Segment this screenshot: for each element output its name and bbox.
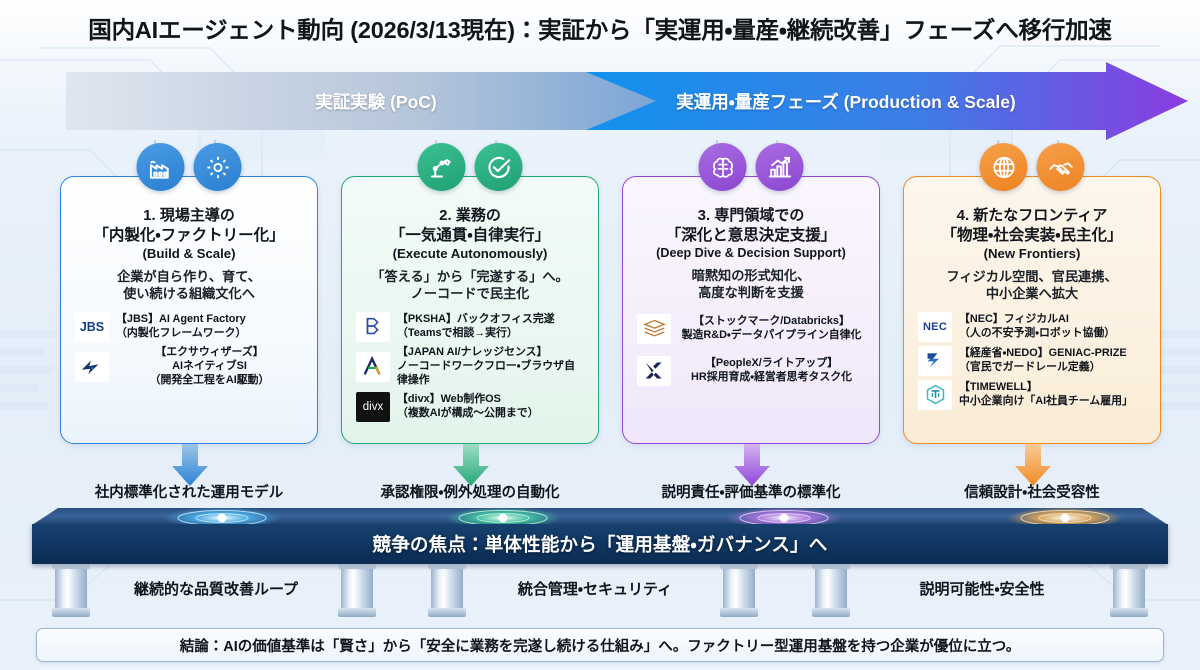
conclusion-box: 結論：AIの価値基準は「賢さ」から「安全に業務を完遂し続ける仕組み」へ。ファクト… — [36, 628, 1164, 662]
logo-nedo — [918, 346, 952, 376]
card2-title-en: (Execute Autonomously) — [352, 246, 588, 261]
list-item[interactable]: 【ストックマーク/Databricks】 製造R&D・データパイプライン自律化 — [637, 314, 865, 344]
card-new-frontiers[interactable]: 4. 新たなフロンティア 「物理・社会実装・民主化」 (New Frontier… — [903, 176, 1161, 444]
banner-label-production: 実運用・量産フェーズ (Production & Scale) — [596, 62, 1096, 140]
card4-title: 4. 新たなフロンティア 「物理・社会実装・民主化」 — [914, 207, 1150, 245]
card1-subtitle: 企業が自ら作り、育て、 使い続ける組織文化へ — [71, 268, 307, 303]
pillar-2 — [338, 562, 376, 618]
platform-bar: 競争の焦点：単体性能から「運用基盤・ガバナンス」へ — [32, 508, 1168, 564]
card1-title-line2: 「内製化・ファクトリー化」 — [71, 226, 307, 245]
logo-divx: divx — [356, 392, 390, 422]
card3-title: 3. 専門領域での 「深化と意思決定支援」 — [633, 207, 869, 245]
pillar-3 — [428, 562, 466, 618]
robot-arm-icon — [418, 143, 466, 191]
globe-icon — [980, 143, 1028, 191]
pillar-1 — [52, 562, 90, 618]
check-circle-icon — [475, 143, 523, 191]
card2-items: 【PKSHA】バックオフィス完遂 （Teamsで相談→実行） 【JAPAN AI… — [352, 312, 588, 422]
card4-subtitle: フィジカル空間、官民連携、 中小企業へ拡大 — [914, 268, 1150, 303]
list-item[interactable]: NEC 【NEC】フィジカルAI （人の不安予測・ロボット協働） — [918, 312, 1146, 342]
card-build-and-scale[interactable]: 1. 現場主導の 「内製化・ファクトリー化」 (Build & Scale) 企… — [60, 176, 318, 444]
outcome-label-1: 社内標準化された運用モデル — [54, 481, 324, 502]
list-item[interactable]: 【エクサウィザーズ】 AIネイティブSI （開発全工程をAI駆動） — [75, 346, 303, 388]
card2-badges — [418, 143, 523, 191]
logo-japan-ai — [356, 352, 390, 382]
card2-title: 2. 業務の 「一気通貫・自律実行」 — [352, 207, 588, 245]
card1-title-line1: 1. 現場主導の — [71, 207, 307, 226]
conclusion-text: 結論：AIの価値基準は「賢さ」から「安全に業務を完遂し続ける仕組み」へ。ファクト… — [180, 635, 1020, 656]
pillar-label-1: 継続的な品質改善ループ — [96, 578, 336, 599]
logo-peoplex — [637, 356, 671, 386]
list-item[interactable]: 【PKSHA】バックオフィス完遂 （Teamsで相談→実行） — [356, 312, 584, 342]
card4-items: NEC 【NEC】フィジカルAI （人の不安予測・ロボット協働） 【経産省・NE… — [914, 312, 1150, 410]
card4-badges — [980, 143, 1085, 191]
outcome-label-2: 承認権限・例外処理の自動化 — [335, 481, 605, 502]
card-deep-dive-decision-support[interactable]: 3. 専門領域での 「深化と意思決定支援」 (Deep Dive & Decis… — [622, 176, 880, 444]
pillar-label-2: 統合管理・セキュリティ — [472, 578, 718, 599]
outcome-label-3: 説明責任・評価基準の標準化 — [616, 481, 886, 502]
bar-chart-trend-icon — [756, 143, 804, 191]
logo-jbs: JBS — [75, 312, 109, 342]
logo-stockmark — [637, 314, 671, 344]
platform-headline: 競争の焦点：単体性能から「運用基盤・ガバナンス」へ — [32, 524, 1168, 564]
list-item[interactable]: 【TIMEWELL】 中小企業向け「AI社員チーム雇用」 — [918, 380, 1146, 410]
logo-pksha — [356, 312, 390, 342]
phase-arrow-banner: 実証実験 (PoC) 実運用・量産フェーズ (Production & Scal… — [66, 62, 1188, 140]
pillar-4 — [720, 562, 758, 618]
pillar-5 — [812, 562, 850, 618]
handshake-icon — [1037, 143, 1085, 191]
card3-title-en: (Deep Dive & Decision Support) — [633, 246, 869, 260]
factory-icon — [137, 143, 185, 191]
card1-title: 1. 現場主導の 「内製化・ファクトリー化」 — [71, 207, 307, 245]
brain-icon — [699, 143, 747, 191]
logo-nec: NEC — [918, 312, 952, 342]
card3-badges — [699, 143, 804, 191]
card3-items: 【ストックマーク/Databricks】 製造R&D・データパイプライン自律化 … — [633, 314, 869, 386]
platform-top-surface — [32, 508, 1168, 525]
list-item[interactable]: 【経産省・NEDO】GENIAC-PRIZE （官民でガードレール定義） — [918, 346, 1146, 376]
gear-icon — [194, 143, 242, 191]
list-item[interactable]: JBS 【JBS】AI Agent Factory （内製化フレームワーク） — [75, 312, 303, 342]
card1-badges — [137, 143, 242, 191]
logo-exawizards — [75, 352, 109, 382]
logo-timewell — [918, 380, 952, 410]
card3-subtitle: 暗黙知の形式知化、 高度な判断を支援 — [633, 267, 869, 302]
card-execute-autonomously[interactable]: 2. 業務の 「一気通貫・自律実行」 (Execute Autonomously… — [341, 176, 599, 444]
list-item[interactable]: 【JAPAN AI/ナレッジセンス】 ノーコードワークフロー・ブラウザ自律操作 — [356, 346, 584, 388]
card4-title-en: (New Frontiers) — [914, 246, 1150, 261]
page-title: 国内AIエージェント動向 (2026/3/13現在)：実証から「実運用・量産・継… — [0, 6, 1200, 50]
card1-items: JBS 【JBS】AI Agent Factory （内製化フレームワーク） 【… — [71, 312, 307, 388]
list-item[interactable]: divx 【divx】Web制作OS （複数AIが構成〜公開まで） — [356, 392, 584, 422]
pillar-6 — [1110, 562, 1148, 618]
pillar-label-3: 説明可能性・安全性 — [856, 578, 1108, 599]
card1-title-en: (Build & Scale) — [71, 246, 307, 261]
outcome-label-4: 信頼設計・社会受容性 — [897, 481, 1167, 502]
list-item[interactable]: 【PeopleX/ライトアップ】 HR採用育成・経営者思考タスク化 — [637, 356, 865, 386]
banner-label-poc: 実証実験 (PoC) — [196, 62, 556, 140]
card2-subtitle: 「答える」から「完遂する」へ。 ノーコードで民主化 — [352, 268, 588, 303]
